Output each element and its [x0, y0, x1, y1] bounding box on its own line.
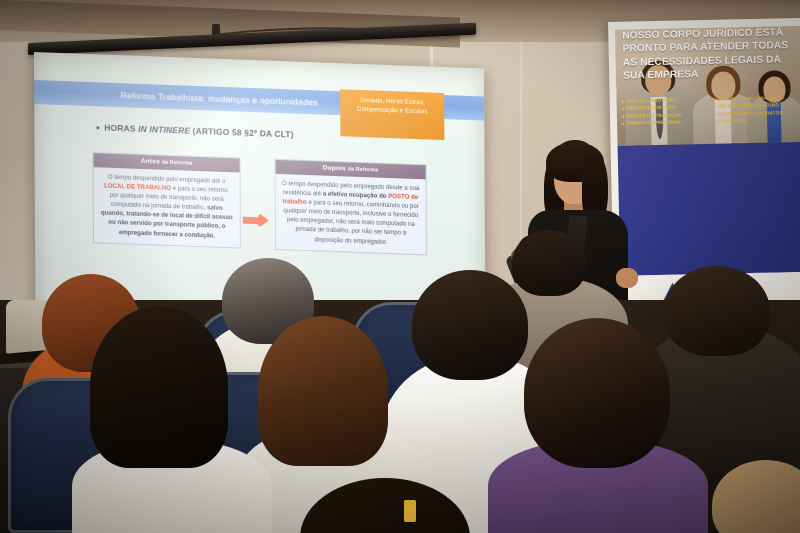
conference-photo: Reforma Trabalhista: mudanças e oportuni…	[0, 0, 800, 533]
comparison-body-before: O tempo despendido pelo empregado até o …	[94, 167, 240, 247]
comparison-box-before: Antes da Reforma O tempo despendido pelo…	[93, 152, 241, 248]
name-badge	[404, 500, 416, 522]
audience	[0, 260, 800, 533]
banner-headline: NOSSO CORPO JURÍDICO ESTÁ PRONTO PARA AT…	[622, 26, 793, 83]
attendee-head	[412, 270, 528, 380]
bullet-prefix: HORAS	[104, 123, 138, 134]
banner-services-left: DIREITO TRIBUTÁRIODIREITO SOCIETÁRIODIRE…	[622, 96, 707, 127]
header-rest-after: da Reforma	[346, 166, 378, 173]
attendee-head	[524, 318, 670, 468]
comparison-body-after: O tempo despendido pelo empregado desde …	[276, 174, 426, 254]
banner-blue-panel	[618, 142, 800, 276]
bullet-dot	[96, 127, 99, 130]
bullet-suffix: (ARTIGO 58 §2º DA CLT)	[190, 126, 294, 140]
attendee-head	[90, 306, 228, 468]
comparison-box-after: Depois da Reforma O tempo despendido pel…	[275, 159, 427, 255]
bullet-italic: IN INTINERE	[138, 124, 190, 136]
attendee-head	[258, 316, 388, 466]
banner-services: DIREITO TRIBUTÁRIODIREITO SOCIETÁRIODIRE…	[622, 94, 799, 127]
header-rest-before: da Reforma	[160, 160, 192, 167]
header-strong-after: Depois	[323, 165, 346, 173]
attendee-head	[512, 230, 586, 296]
attendee-head	[664, 266, 770, 356]
banner-services-right: DIREITO IMOBILIÁRIO E LOC.RELAÇÕES DO CO…	[714, 94, 799, 125]
header-strong-before: Antes	[141, 158, 160, 166]
